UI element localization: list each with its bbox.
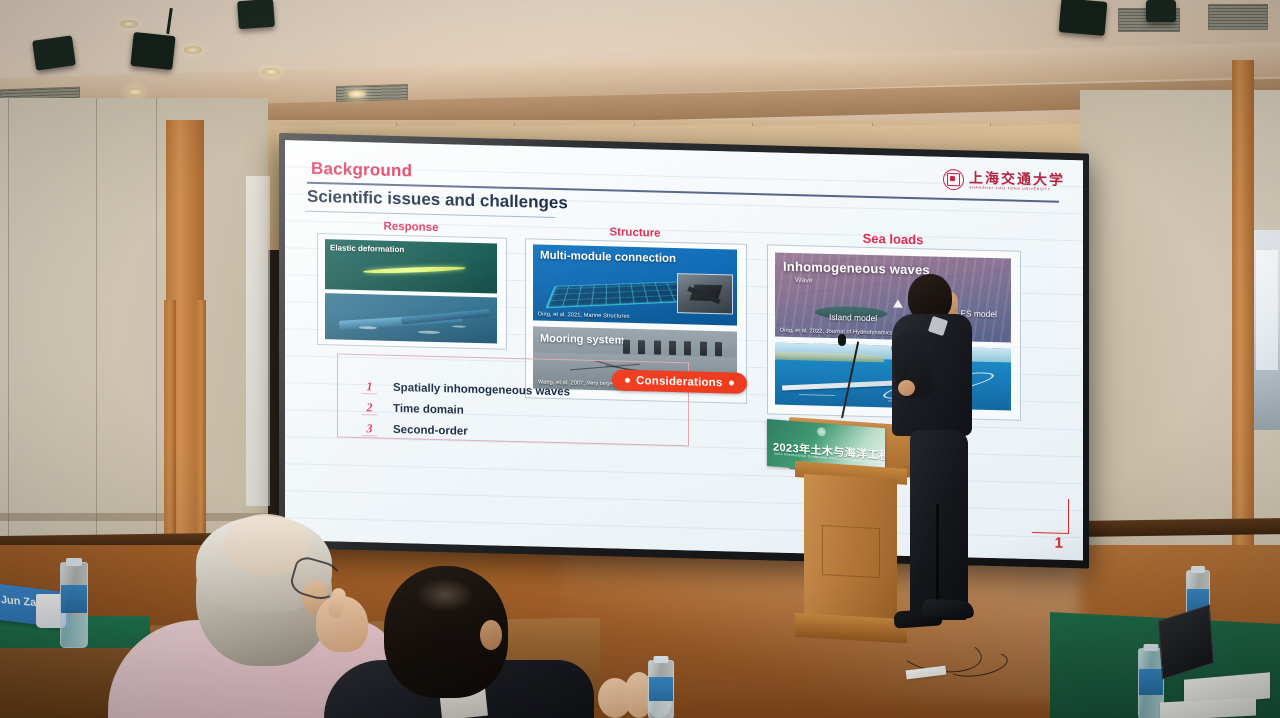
badge-dot-right-icon — [729, 380, 734, 385]
consideration-item-2: 2 Time domain — [362, 400, 464, 418]
photo-caption-multi-module: Ding, et al. 2021, Marine Structures — [538, 312, 630, 320]
bottle-label — [649, 677, 673, 701]
wall-seam-1 — [8, 98, 9, 568]
photo-floating-pontoons — [325, 293, 497, 343]
photo-elastic-deformation: Elastic deformation — [325, 239, 497, 293]
sjtu-seal-icon — [943, 169, 964, 191]
ocean-fleck-1 — [799, 394, 835, 396]
wall-seam-2 — [96, 98, 97, 568]
bottle-cap — [66, 558, 82, 566]
conference-room-photo: 上海交通大学 SHANGHAI JIAO TONG UNIVERSITY Bac… — [0, 0, 1280, 718]
bottle-cap — [1191, 566, 1205, 573]
presenter-shoe-right — [922, 599, 975, 619]
considerations-box: Considerations 1 Spatially inhomogeneous… — [337, 353, 689, 446]
downlight-3 — [126, 88, 144, 96]
microphone-head-icon — [838, 334, 846, 346]
spotlight-2 — [130, 32, 175, 70]
photo-title-multi-module: Multi-module connection — [540, 250, 676, 265]
door-frame-left — [164, 300, 176, 568]
item-number-3: 3 — [362, 421, 377, 436]
item-number-2: 2 — [362, 400, 377, 415]
mooring-unit — [684, 341, 691, 355]
mooring-units — [623, 340, 733, 359]
wall-seam-3 — [156, 98, 157, 568]
attendee-2-ear — [480, 620, 502, 650]
item-text-1: Spatially inhomogeneous waves — [393, 381, 570, 397]
attendee-3-hands — [598, 672, 694, 718]
badge-dot-left-icon — [625, 378, 630, 383]
banner-emblem-icon — [817, 427, 826, 437]
consideration-item-3: 3 Second-order — [362, 421, 468, 439]
considerations-label: Considerations — [636, 375, 723, 389]
item-number-1: 1 — [362, 379, 377, 394]
ceiling-vent-right — [336, 84, 408, 102]
water-fleck-3 — [452, 325, 466, 327]
lectern-panel-inlay — [822, 525, 880, 578]
water-fleck-2 — [418, 330, 440, 334]
spotlight-4 — [1059, 0, 1108, 36]
item-text-3: Second-order — [393, 423, 468, 437]
connector-inset-photo — [677, 273, 733, 314]
downlight-2 — [184, 46, 202, 54]
university-logo: 上海交通大学 SHANGHAI JIAO TONG UNIVERSITY — [943, 169, 1065, 193]
slide-page-number: 1 — [1055, 535, 1063, 552]
spotlight-1 — [32, 35, 76, 70]
bottle-cap — [654, 656, 669, 663]
consideration-item-1: 1 Spatially inhomogeneous waves — [362, 379, 570, 399]
mooring-unit — [623, 340, 630, 354]
mooring-unit — [654, 341, 661, 355]
wall-baseline — [0, 513, 268, 521]
photo-title-elastic: Elastic deformation — [330, 243, 404, 254]
left-wall-partition — [0, 98, 268, 568]
photo-title-mooring: Mooring system — [540, 333, 624, 347]
water-bottle-front — [648, 660, 674, 718]
spotlight-3 — [237, 0, 275, 29]
item-text-2: Time domain — [393, 402, 464, 416]
presenter-legs — [910, 430, 968, 620]
mooring-unit — [669, 341, 676, 355]
water-bottle-left — [60, 562, 88, 648]
logo-chinese-text: 上海交通大学 — [969, 170, 1065, 186]
annotation-island-model: Island model — [829, 312, 877, 323]
annotation-wave: Wave — [795, 277, 813, 284]
wood-column-right — [1232, 60, 1254, 560]
photo-multi-module-connection: Multi-module connection Ding, et al. 202… — [533, 244, 737, 325]
window-light-right — [1256, 250, 1278, 370]
window-light-left — [246, 176, 270, 506]
door-frame-left-inner — [196, 300, 206, 568]
laptop-screen[interactable] — [1158, 604, 1214, 679]
mooring-unit — [638, 340, 645, 354]
water-fleck-1 — [359, 326, 377, 329]
considerations-badge: Considerations — [612, 369, 747, 393]
spotlight-5 — [1146, 0, 1176, 22]
downlight-1 — [120, 20, 138, 28]
slide-corner-accent — [1032, 498, 1069, 534]
downlight-5 — [348, 90, 366, 98]
mooring-unit — [700, 342, 707, 356]
bottle-label — [61, 585, 87, 613]
attendee-2-hair-highlight — [416, 578, 474, 612]
slide-section-label: Background — [311, 159, 412, 182]
presenter — [886, 274, 982, 668]
laptop-right[interactable] — [1160, 612, 1222, 674]
presenter-hand — [898, 380, 915, 396]
presenter-leg-separation — [936, 504, 939, 604]
downlight-4 — [262, 68, 280, 76]
ceiling-vent-far-right-2 — [1208, 4, 1268, 30]
mooring-unit — [715, 342, 722, 356]
elastic-beam-shape — [363, 266, 466, 275]
bottle-cap — [1144, 644, 1159, 651]
